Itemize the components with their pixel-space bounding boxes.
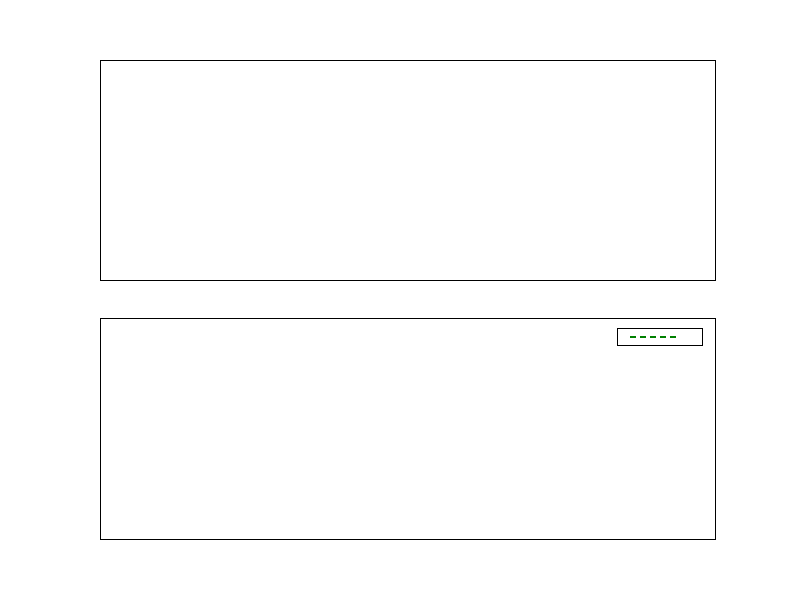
top-histogram-axes xyxy=(100,60,716,281)
histogram-bars xyxy=(101,61,715,280)
cumulative-curve xyxy=(101,319,715,539)
figure-canvas xyxy=(0,0,800,600)
bottom-plot-area xyxy=(101,319,715,539)
legend-box xyxy=(617,328,703,346)
mag-limit-line-icon xyxy=(630,336,676,338)
top-plot-area xyxy=(101,61,715,280)
bottom-cumulative-axes xyxy=(100,318,716,540)
